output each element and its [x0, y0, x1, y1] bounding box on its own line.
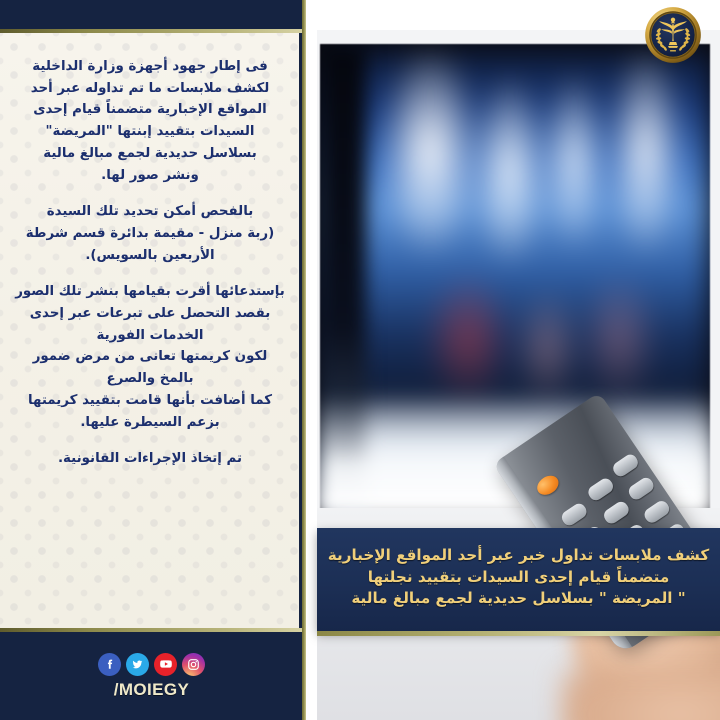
caption-banner: كشف ملابسات تداول خبر عبر أحد المواقع ال…: [317, 528, 720, 631]
statement-body: فى إطار جهود أجهزة وزارة الداخلية لكشف م…: [6, 56, 294, 616]
p2-line1: بالفحص أمكن تحديد تلك السيدة: [12, 201, 288, 223]
p1-line4: السيدات بتقييد إبنتها "المريضة": [12, 121, 288, 143]
p1-line5: بسلاسل حديدية لجمع مبالغ مالية: [12, 143, 288, 165]
news-poster: فى إطار جهود أجهزة وزارة الداخلية لكشف م…: [0, 0, 720, 720]
remote-button: [559, 501, 589, 528]
remote-button: [586, 476, 616, 503]
remote-button: [626, 475, 656, 502]
social-handle[interactable]: /MOIEGY: [114, 680, 190, 700]
p1-line6: ونشر صور لها.: [12, 165, 288, 187]
facebook-icon[interactable]: [98, 653, 121, 676]
p1-line2: لكشف ملابسات ما تم تداوله عبر أحد: [12, 78, 288, 100]
left-text-panel: فى إطار جهود أجهزة وزارة الداخلية لكشف م…: [0, 0, 306, 720]
television-frame: [320, 44, 710, 514]
ministry-of-interior-logo-icon: [644, 6, 702, 64]
remote-button: [642, 498, 672, 525]
paragraph-spacer: [12, 433, 288, 448]
p3-line2: بقصد التحصل على تبرعات عبر إحدى: [12, 303, 288, 325]
paragraph-spacer: [12, 186, 288, 201]
p2-line3: الأربعين بالسويس).: [12, 245, 288, 267]
paragraph-spacer: [12, 266, 288, 281]
arm-blur: [560, 670, 720, 720]
remote-button: [601, 499, 631, 526]
caption-line-3: " المريضة " بسلاسل حديدية لجمع مبالغ مال…: [351, 588, 685, 610]
p3-line3: الخدمات الفورية: [12, 325, 288, 347]
p1-line1: فى إطار جهود أجهزة وزارة الداخلية: [12, 56, 288, 78]
p3-line1: بإستدعائها أقرت بقيامها بنشر تلك الصور: [12, 281, 288, 303]
p1-line3: المواقع الإخبارية متضمناً قيام إحدى: [12, 99, 288, 121]
p2-line2: (ربة منزل - مقيمة بدائرة قسم شرطة: [12, 223, 288, 245]
p3-line5: بالمخ والصرع: [12, 368, 288, 390]
social-footer: /MOIEGY: [0, 632, 303, 720]
p4-line1: تم إتخاذ الإجراءات القانونية.: [12, 448, 288, 470]
twitter-icon[interactable]: [126, 653, 149, 676]
youtube-icon[interactable]: [154, 653, 177, 676]
p3-line4: لكون كريمتها تعانى من مرض ضمور: [12, 346, 288, 368]
p3-line6: كما أضافت بأنها قامت بتقييد كريمتها: [12, 390, 288, 412]
gold-rule-top: [0, 29, 303, 33]
instagram-icon[interactable]: [182, 653, 205, 676]
remote-button: [611, 452, 641, 479]
p3-line7: بزعم السيطرة عليها.: [12, 412, 288, 434]
social-icon-row: [98, 653, 205, 676]
caption-line-2: متضمناً قيام إحدى السيدات بتقييد نجلتها: [368, 567, 670, 589]
gold-vertical-edge: [302, 0, 306, 720]
caption-line-1: كشف ملابسات تداول خبر عبر أحد المواقع ال…: [328, 545, 709, 567]
